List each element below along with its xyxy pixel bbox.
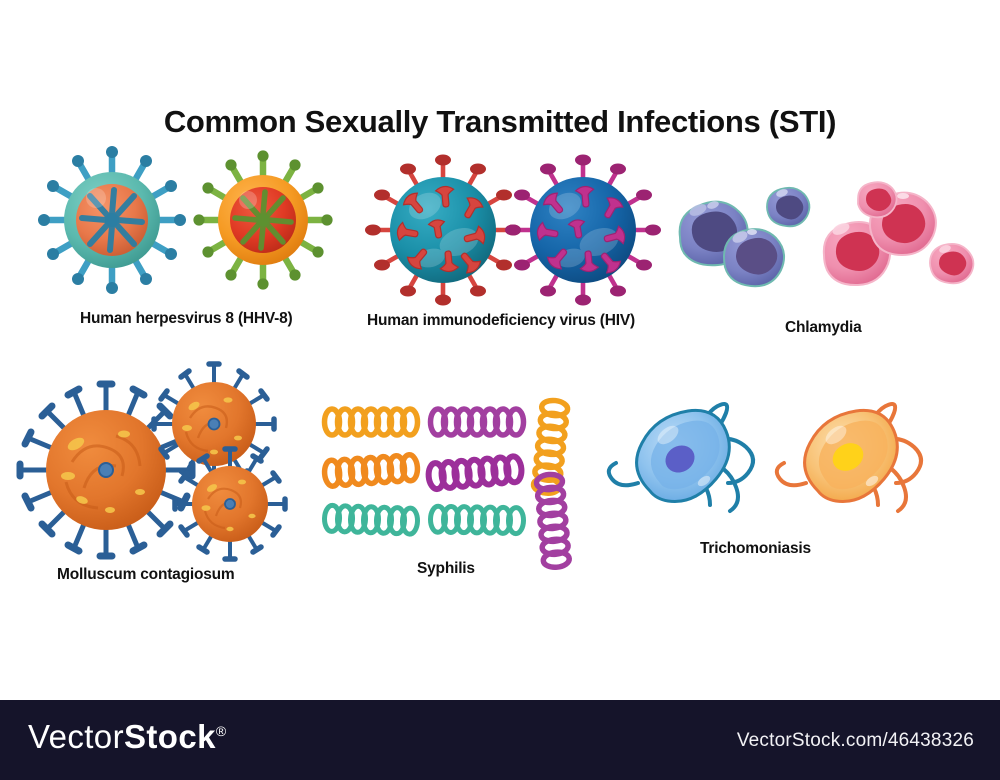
logo-text-light: Vector [28, 718, 124, 755]
logo-text-bold: Stock [124, 718, 216, 755]
illustration-trichomoniasis [598, 395, 948, 540]
trichomonas-blue [609, 404, 753, 511]
molluscum-particle-top [154, 364, 274, 484]
illustration-syphilis [318, 402, 593, 552]
spirochete-teal-1 [324, 505, 418, 534]
spirochete-purple-2 [428, 456, 523, 490]
watermark-url: VectorStock.com/46438326 [737, 730, 974, 752]
caption-hhv8: Human herpesvirus 8 (HHV-8) [80, 310, 293, 328]
illustration-chlamydia [672, 185, 972, 310]
caption-chlamydia: Chlamydia [785, 319, 862, 337]
caption-hiv: Human immunodeficiency virus (HIV) [367, 312, 635, 330]
caption-syphilis: Syphilis [417, 560, 475, 578]
trichomonas-orange [777, 404, 921, 511]
caption-molluscum: Molluscum contagiosum [57, 566, 235, 584]
chlamydia-cell-blue-2 [724, 229, 784, 286]
registered-trademark-icon: ® [216, 723, 227, 739]
poster-canvas: Common Sexually Transmitted Infections (… [0, 0, 1000, 780]
illustration-molluscum [18, 352, 308, 557]
chlamydia-cell-blue-3 [767, 188, 809, 227]
caption-trichomoniasis: Trichomoniasis [700, 540, 811, 558]
spirochete-teal-2 [430, 506, 523, 534]
hiv-particle-1 [365, 155, 521, 306]
chlamydia-cell-pink-3 [858, 182, 897, 217]
illustration-hiv [365, 158, 675, 308]
spirochete-purple-1 [431, 409, 524, 435]
molluscum-particle-large [20, 384, 192, 556]
spirochete-orange-2 [324, 454, 419, 486]
page-title: Common Sexually Transmitted Infections (… [0, 104, 1000, 140]
spirochete-purple-vertical [536, 473, 570, 568]
hhv8-particle-1 [38, 146, 186, 294]
illustration-hhv8 [30, 140, 370, 305]
hhv8-particle-2 [193, 150, 332, 289]
vectorstock-logo: VectorStock® [28, 718, 227, 756]
spirochete-orange-1 [325, 409, 418, 435]
chlamydia-cell-pink-4 [930, 244, 973, 284]
hiv-particle-2 [505, 155, 661, 306]
